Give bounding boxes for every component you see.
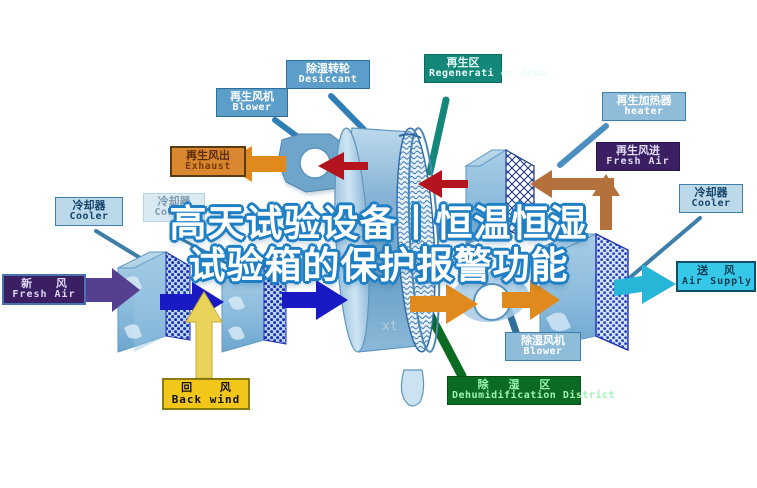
label-dehumidification-district[interactable]: 除 湿 区 Dehumidification District (447, 376, 581, 405)
leader-cooler-mid (183, 240, 236, 268)
diagram-artwork: xt (0, 0, 757, 488)
label-air-supply[interactable]: 送 风 Air Supply (676, 261, 756, 292)
label-desiccant-wheel[interactable]: 除湿转轮 Desiccant (286, 60, 370, 89)
dehumidifier-diagram: xt (0, 0, 757, 488)
rotor-watermark: xt (382, 319, 398, 334)
label-regeneration-fresh-air[interactable]: 再生风进 Fresh Air (596, 142, 680, 171)
label-cooler-left[interactable]: 冷却器 Cooler (55, 197, 123, 226)
label-back-wind[interactable]: 回 风 Back wind (162, 378, 250, 410)
label-dehumidify-blower-en: Blower (510, 347, 576, 358)
label-regeneration-area-en: Regenerati on Area (429, 69, 497, 80)
label-cooler-right-en: Cooler (684, 199, 738, 210)
label-cooler-middle[interactable]: 冷却器 Cooler (143, 193, 205, 222)
label-fresh-air[interactable]: 新 风 Fresh Air (2, 274, 86, 305)
label-cooler-right[interactable]: 冷却器 Cooler (679, 184, 743, 213)
label-cooler-left-en: Cooler (60, 212, 118, 223)
label-fresh-air-en: Fresh Air (8, 290, 80, 301)
label-dehumidify-blower[interactable]: 除湿风机 Blower (505, 332, 581, 361)
label-exhaust[interactable]: 再生风出 Exhaust (170, 146, 246, 177)
cooler-box-middle (222, 266, 286, 352)
label-back-wind-en: Back wind (168, 394, 244, 406)
label-regeneration-heater[interactable]: 再生加热器 heater (602, 92, 686, 121)
leader-regen-area (430, 100, 446, 172)
label-regeneration-area[interactable]: 再生区 Regenerati on Area (424, 54, 502, 83)
rotor-drip (401, 370, 423, 406)
arrow-process-air-2 (282, 280, 348, 320)
regeneration-heater-box (466, 150, 534, 244)
label-air-supply-en: Air Supply (682, 277, 750, 288)
label-dehumidification-district-en: Dehumidification District (452, 391, 576, 402)
label-exhaust-en: Exhaust (176, 162, 240, 173)
label-regeneration-blower-en: Blower (221, 103, 283, 114)
label-regeneration-heater-en: heater (607, 107, 681, 118)
label-regeneration-blower[interactable]: 再生风机 Blower (216, 88, 288, 117)
label-cooler-middle-en: Cooler (148, 208, 200, 219)
label-regeneration-fresh-air-en: Fresh Air (601, 157, 675, 168)
label-desiccant-wheel-en: Desiccant (291, 75, 365, 86)
heater-element-mesh (506, 150, 534, 240)
